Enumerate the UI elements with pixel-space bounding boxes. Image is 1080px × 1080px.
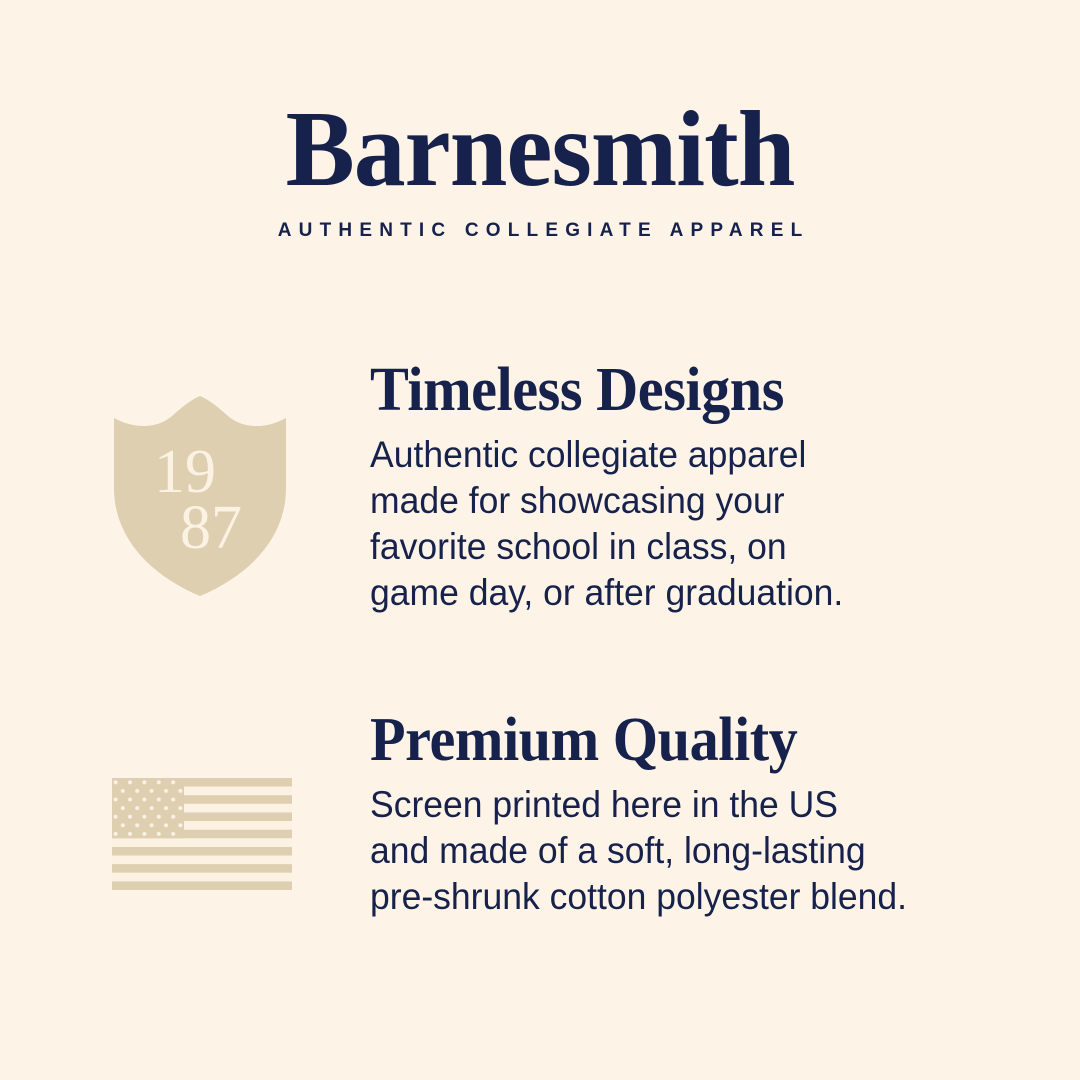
- brand-feature-graphic: Barnesmith AUTHENTIC COLLEGIATE APPAREL …: [0, 0, 1080, 1080]
- body-line: game day, or after graduation.: [370, 570, 984, 616]
- body-line: and made of a soft, long-lasting: [370, 828, 984, 874]
- feature-text-block: Premium Quality Screen printed here in t…: [370, 708, 1010, 920]
- feature-premium-quality: Premium Quality Screen printed here in t…: [0, 708, 1080, 958]
- shield-1987-icon: 19 87: [112, 396, 288, 596]
- body-line: pre-shrunk cotton polyester blend.: [370, 874, 984, 920]
- feature-heading-timeless-designs: Timeless Designs: [370, 358, 972, 422]
- feature-heading-premium-quality: Premium Quality: [370, 708, 972, 772]
- brand-tagline: AUTHENTIC COLLEGIATE APPAREL: [0, 220, 1080, 242]
- feature-text-block: Timeless Designs Authentic collegiate ap…: [370, 358, 1010, 616]
- body-line: Authentic collegiate apparel: [370, 432, 984, 478]
- feature-body-premium-quality: Screen printed here in the US and made o…: [370, 782, 984, 920]
- us-flag-icon: [112, 778, 292, 890]
- body-line: favorite school in class, on: [370, 524, 984, 570]
- feature-body-timeless-designs: Authentic collegiate apparel made for sh…: [370, 432, 984, 616]
- brand-wordmark: Barnesmith: [22, 96, 1059, 204]
- body-line: made for showcasing your: [370, 478, 984, 524]
- feature-timeless-designs: 19 87 Timeless Designs Authentic collegi…: [0, 358, 1080, 638]
- brand-header: Barnesmith AUTHENTIC COLLEGIATE APPAREL: [0, 96, 1080, 242]
- body-line: Screen printed here in the US: [370, 782, 984, 828]
- shield-year-bottom-text: 87: [180, 494, 242, 562]
